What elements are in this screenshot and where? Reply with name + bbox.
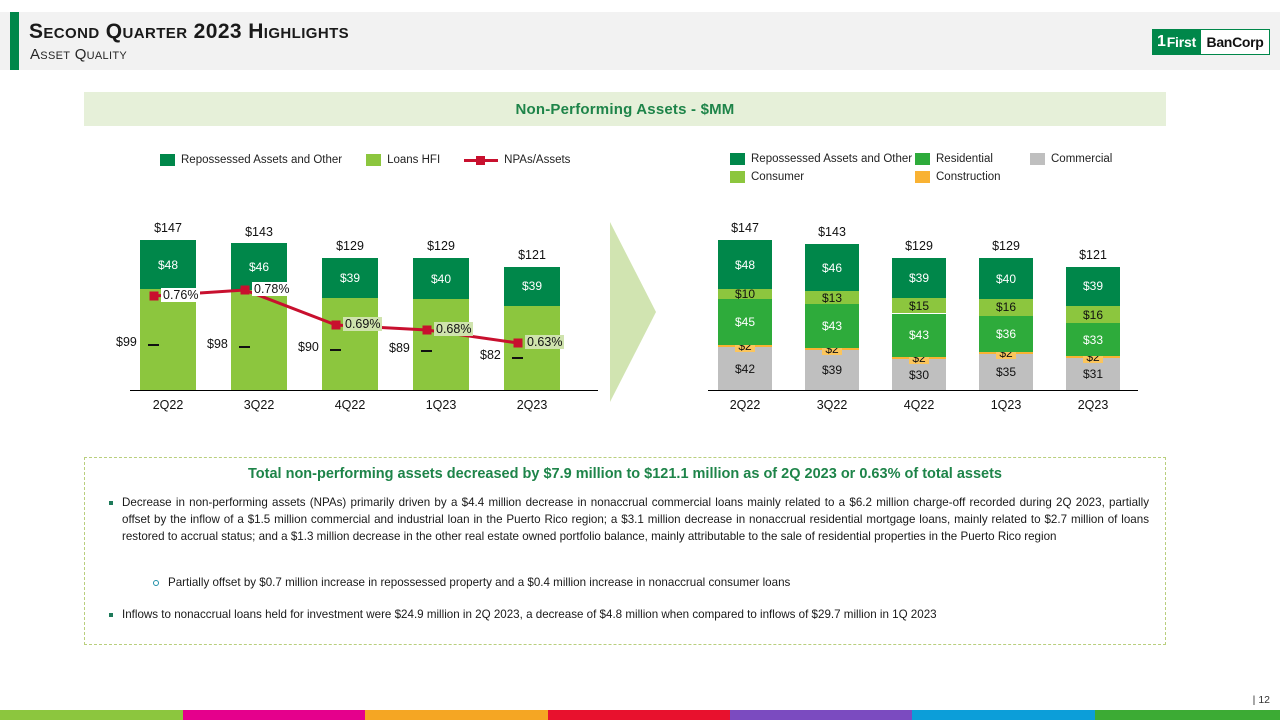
legend-label: Repossessed Assets and Other: [751, 153, 912, 165]
line-data-point: [514, 339, 523, 348]
logo-first-text: First: [1167, 34, 1196, 50]
strip-segment: [730, 710, 912, 720]
segment-value-label: $39: [822, 363, 842, 377]
bar-segment-construction: $2: [1066, 356, 1120, 358]
bar-segment-residential: $43: [892, 314, 946, 358]
category-label-1Q23: 1Q23: [965, 398, 1047, 412]
bar-segment-construction: $2: [979, 352, 1033, 354]
bullet-text: Inflows to nonaccrual loans held for inv…: [122, 606, 937, 623]
segment-value-label: $43: [822, 319, 842, 333]
legend-label: Commercial: [1051, 153, 1112, 165]
summary-callout-box: Total non-performing assets decreased by…: [84, 457, 1166, 645]
npas-assets-value-label: 0.78%: [252, 282, 291, 296]
segment-value-label: $36: [996, 327, 1016, 341]
legend-item-construction: Construction: [915, 171, 1030, 183]
legend-label: Construction: [936, 171, 1001, 183]
legend-item-consumer: Consumer: [730, 171, 915, 183]
legend-swatch-icon: [366, 154, 381, 166]
bar-1Q23: $35$2$36$16$40: [979, 258, 1033, 390]
transition-arrow-icon: [610, 222, 656, 402]
segment-value-label: $33: [1083, 333, 1103, 347]
legend-swatch-icon: [160, 154, 175, 166]
legend-swatch-icon: [915, 153, 930, 165]
firstbancorp-logo: 1First BanCorp: [1152, 29, 1270, 55]
segment-value-label: $31: [1083, 367, 1103, 381]
category-label-3Q22: 3Q22: [791, 398, 873, 412]
legend-item-repossessed: Repossessed Assets and Other: [730, 153, 915, 165]
legend-item-repossessed: Repossessed Assets and Other: [160, 154, 342, 166]
bar-segment-residential: $43: [805, 304, 859, 348]
legend-item-residential: Residential: [915, 153, 1030, 165]
segment-value-label: $16: [1083, 308, 1103, 322]
legend-swatch-icon: [730, 153, 745, 165]
legend-swatch-icon: [1030, 153, 1045, 165]
strip-segment: [365, 710, 548, 720]
callout-title: Total non-performing assets decreased by…: [85, 466, 1165, 482]
right-chart-legend: Repossessed Assets and Other Residential…: [730, 153, 1130, 183]
chart-axis-line: [708, 390, 1138, 391]
npas-assets-line: [120, 200, 620, 420]
line-data-point: [332, 321, 341, 330]
bar-total-label: $129: [967, 239, 1045, 253]
segment-value-label: $13: [822, 291, 842, 305]
logo-bancorp-text: BanCorp: [1201, 30, 1269, 54]
logo-green-part: 1First: [1153, 30, 1201, 54]
npas-assets-value-label: 0.68%: [434, 322, 473, 336]
bar-segment-consumer: $16: [979, 299, 1033, 315]
legend-label: Residential: [936, 153, 993, 165]
legend-swatch-icon: [915, 171, 930, 183]
line-data-point: [150, 292, 159, 301]
npas-assets-value-label: 0.76%: [161, 288, 200, 302]
bar-2Q23: $31$2$33$16$39: [1066, 267, 1120, 390]
bar-segment-repossessed-assets-and-other: $48: [718, 240, 772, 289]
bar-segment-residential: $33: [1066, 323, 1120, 357]
legend-item-npas-assets: NPAs/Assets: [464, 154, 570, 166]
bullet-text: Decrease in non-performing assets (NPAs)…: [122, 494, 1149, 545]
npa-summary-chart: $48$1472Q22$46$1433Q22$39$1294Q22$40$129…: [120, 200, 620, 420]
bar-segment-consumer: $15: [892, 298, 946, 313]
segment-value-label: $46: [822, 261, 842, 275]
strip-segment: [548, 710, 730, 720]
bar-total-label: $143: [793, 225, 871, 239]
bar-segment-commercial: $39: [805, 350, 859, 390]
bar-segment-construction: $2: [718, 345, 772, 347]
segment-value-label: $35: [996, 365, 1016, 379]
bullet-text: Partially offset by $0.7 million increas…: [168, 574, 790, 591]
bullet-circle-icon: [153, 580, 159, 586]
segment-value-label: $39: [1083, 279, 1103, 293]
page-title: Second Quarter 2023 Highlights: [29, 20, 349, 44]
list-item: Partially offset by $0.7 million increas…: [153, 574, 1149, 591]
bar-segment-consumer: $13: [805, 291, 859, 304]
segment-value-label: $30: [909, 368, 929, 382]
legend-swatch-icon: [730, 171, 745, 183]
bar-total-label: $121: [1054, 248, 1132, 262]
bar-2Q22: $42$2$45$10$48: [718, 240, 772, 390]
strip-segment: [0, 710, 183, 720]
line-data-point: [241, 286, 250, 295]
bar-segment-construction: $2: [805, 348, 859, 350]
strip-segment: [912, 710, 1095, 720]
page-subtitle: Asset Quality: [30, 46, 127, 63]
bar-segment-repossessed-assets-and-other: $46: [805, 244, 859, 291]
bar-segment-residential: $36: [979, 316, 1033, 353]
bar-segment-repossessed-assets-and-other: $40: [979, 258, 1033, 299]
segment-value-label: $16: [996, 300, 1016, 314]
strip-segment: [1095, 710, 1280, 720]
npas-assets-value-label: 0.63%: [525, 335, 564, 349]
bar-total-label: $147: [706, 221, 784, 235]
legend-label: NPAs/Assets: [504, 154, 570, 166]
segment-value-label: $45: [735, 315, 755, 329]
legend-line-marker-icon: [464, 154, 498, 166]
npa-breakdown-chart: $42$2$45$10$48$1472Q22$39$2$43$13$46$143…: [700, 200, 1160, 420]
segment-value-label: $39: [909, 271, 929, 285]
legend-item-loans-hfi: Loans HFI: [366, 154, 440, 166]
bar-segment-repossessed-assets-and-other: $39: [892, 258, 946, 298]
chart-section-banner: Non-Performing Assets - $MM: [84, 92, 1166, 126]
list-item: Decrease in non-performing assets (NPAs)…: [109, 494, 1149, 545]
header-accent-bar: [10, 12, 19, 70]
bar-segment-construction: $2: [892, 357, 946, 359]
bar-segment-consumer: $16: [1066, 306, 1120, 322]
category-label-4Q22: 4Q22: [878, 398, 960, 412]
segment-value-label: $10: [735, 287, 755, 301]
left-chart-legend: Repossessed Assets and Other Loans HFI N…: [160, 154, 570, 166]
line-data-point: [423, 326, 432, 335]
legend-label: Repossessed Assets and Other: [181, 154, 342, 166]
footer-color-strip: [0, 710, 1280, 720]
category-label-2Q23: 2Q23: [1052, 398, 1134, 412]
bar-segment-repossessed-assets-and-other: $39: [1066, 267, 1120, 307]
chart-section-title: Non-Performing Assets - $MM: [515, 101, 734, 118]
segment-value-label: $48: [735, 258, 755, 272]
segment-value-label: $40: [996, 272, 1016, 286]
segment-value-label: $43: [909, 328, 929, 342]
category-label-2Q22: 2Q22: [704, 398, 786, 412]
legend-item-commercial: Commercial: [1030, 153, 1130, 165]
strip-segment: [183, 710, 365, 720]
bar-segment-commercial: $42: [718, 347, 772, 390]
segment-value-label: $42: [735, 362, 755, 376]
bullet-square-icon: [109, 501, 113, 505]
bar-4Q22: $30$2$43$15$39: [892, 258, 946, 390]
page-number: | 12: [1253, 694, 1270, 706]
legend-label: Loans HFI: [387, 154, 440, 166]
bar-segment-consumer: $10: [718, 289, 772, 299]
bar-3Q22: $39$2$43$13$46: [805, 244, 859, 390]
bullet-square-icon: [109, 613, 113, 617]
bar-total-label: $129: [880, 239, 958, 253]
list-item: Inflows to nonaccrual loans held for inv…: [109, 606, 1149, 623]
segment-value-label: $15: [909, 299, 929, 313]
logo-numeral: 1: [1157, 33, 1167, 51]
npas-assets-value-label: 0.69%: [343, 317, 382, 331]
legend-label: Consumer: [751, 171, 804, 183]
bar-segment-residential: $45: [718, 299, 772, 345]
